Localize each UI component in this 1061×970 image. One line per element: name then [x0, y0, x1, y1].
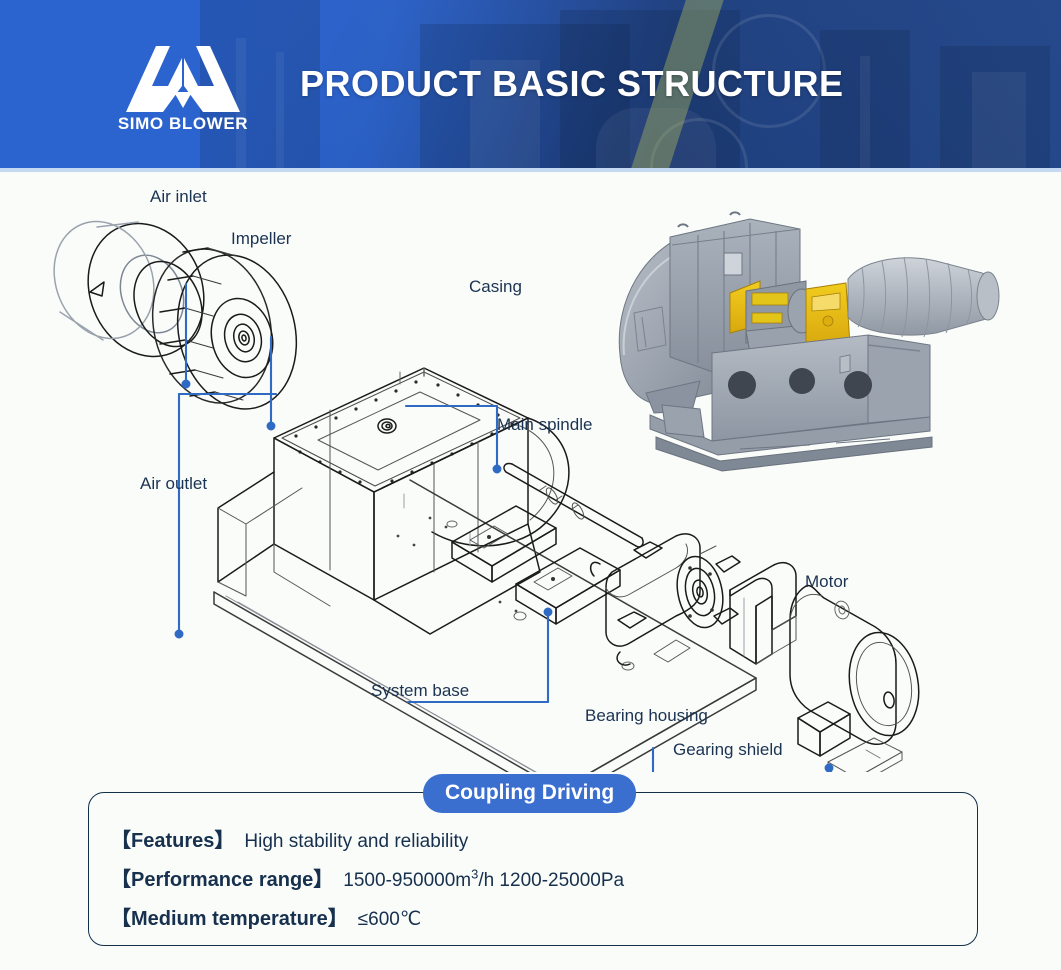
spec-value: 1500-950000m3/h 1200-25000Pa	[343, 870, 624, 891]
blower-photograph	[600, 205, 1020, 495]
diagram-label-gearing-shield: Gearing shield	[673, 740, 783, 760]
spec-value: High stability and reliability	[244, 831, 468, 852]
spec-card: 【Features】High stability and reliability…	[88, 792, 978, 946]
diagram-label-air-outlet: Air outlet	[140, 474, 207, 494]
product-photo	[600, 205, 1020, 495]
spec-key: 【Features】	[111, 830, 234, 852]
spec-row-features: 【Features】High stability and reliability	[111, 824, 468, 853]
diagram-label-casing: Casing	[469, 277, 522, 297]
spec-value-post: /h 1200-25000Pa	[478, 870, 624, 891]
spec-value: ≤600℃	[358, 909, 421, 930]
simo-blower-mark-icon	[108, 42, 258, 114]
spec-value-pre: 1500-950000m	[343, 870, 471, 891]
diagram-label-motor: Motor	[805, 572, 848, 592]
diagram-label-main-spindle: Main spindle	[497, 415, 592, 435]
header-bg-shape	[276, 52, 284, 172]
diagram-label-system-base: System base	[371, 681, 469, 701]
simo-blower-logo: SIMO BLOWER	[108, 42, 258, 140]
spec-key: 【Performance range】	[111, 869, 333, 891]
coupling-driving-badge: Coupling Driving	[423, 774, 636, 813]
page-title: PRODUCT BASIC STRUCTURE	[300, 63, 844, 105]
spec-row-performance-range: 【Performance range】1500-950000m3/h 1200-…	[111, 863, 624, 892]
spec-row-medium-temperature: 【Medium temperature】≤600℃	[111, 902, 421, 931]
header-bg-shape	[972, 72, 1026, 172]
header-bg-shape	[860, 56, 870, 172]
diagram-label-bearing-housing: Bearing housing	[585, 706, 708, 726]
logo-wordmark: SIMO BLOWER	[108, 114, 258, 134]
page-header: SIMO BLOWER PRODUCT BASIC STRUCTURE	[0, 0, 1061, 172]
diagram-label-air-inlet: Air inlet	[150, 187, 207, 207]
diagram-label-impeller: Impeller	[231, 229, 291, 249]
spec-key: 【Medium temperature】	[111, 908, 348, 930]
